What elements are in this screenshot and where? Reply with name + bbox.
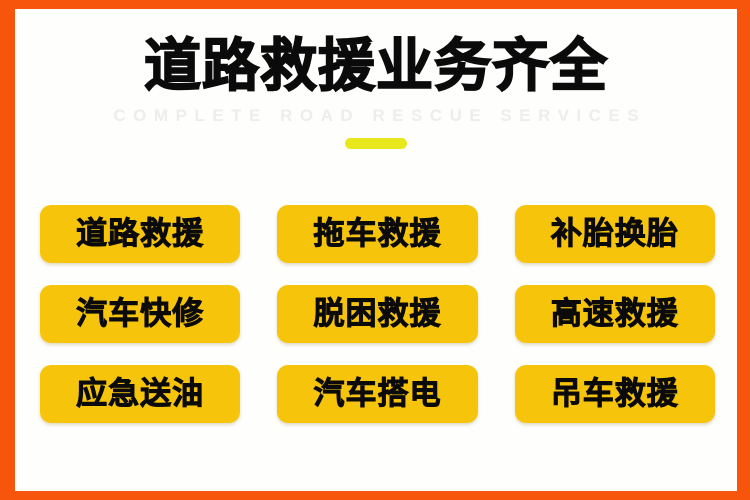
service-button-highway-rescue[interactable]: 高速救援 [515,285,715,343]
service-button-quick-car-repair[interactable]: 汽车快修 [40,285,240,343]
service-button-label: 脱困救援 [313,299,441,330]
service-button-tire-repair-replace[interactable]: 补胎换胎 [515,205,715,263]
service-button-jump-start[interactable]: 汽车搭电 [277,365,477,423]
service-button-grid: 道路救援 拖车救援 补胎换胎 汽车快修 脱困救援 高速救援 应急送油 汽车搭电 [40,205,715,423]
service-button-label: 拖车救援 [313,219,441,250]
service-button-label: 应急送油 [76,379,204,410]
service-button-label: 道路救援 [76,219,204,250]
poster-frame: 道路救援业务齐全 COMPLETE ROAD RESCUE SERVICES 道… [0,0,750,500]
service-button-road-rescue[interactable]: 道路救援 [40,205,240,263]
service-button-emergency-fuel[interactable]: 应急送油 [40,365,240,423]
service-button-label: 补胎换胎 [551,219,679,250]
service-button-label: 吊车救援 [551,379,679,410]
page-subtitle: COMPLETE ROAD RESCUE SERVICES [15,106,737,126]
service-button-tow-rescue[interactable]: 拖车救援 [277,205,477,263]
header: 道路救援业务齐全 COMPLETE ROAD RESCUE SERVICES [15,37,737,149]
accent-bar [345,138,407,149]
service-button-label: 汽车快修 [76,299,204,330]
page-title: 道路救援业务齐全 [15,37,737,97]
service-button-label: 高速救援 [551,299,679,330]
service-button-label: 汽车搭电 [313,379,441,410]
service-button-crane-rescue[interactable]: 吊车救援 [515,365,715,423]
service-button-extrication-rescue[interactable]: 脱困救援 [277,285,477,343]
poster-canvas: 道路救援业务齐全 COMPLETE ROAD RESCUE SERVICES 道… [15,9,737,491]
